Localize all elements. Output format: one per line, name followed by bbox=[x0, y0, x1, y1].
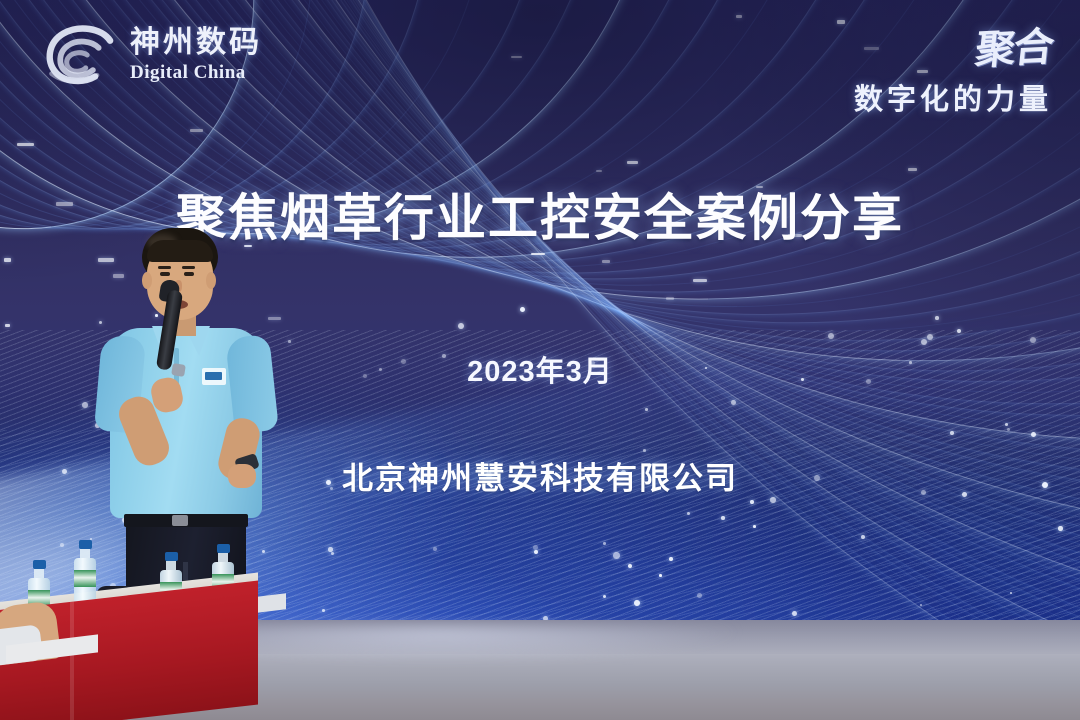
presenter-brow-right bbox=[182, 266, 195, 269]
presenter bbox=[96, 228, 276, 620]
presenter-hand-right bbox=[228, 464, 256, 488]
brand-name-cn: 神州数码 bbox=[130, 28, 262, 58]
presenter-eye-left bbox=[160, 272, 170, 276]
presenter-brow-left bbox=[158, 266, 171, 269]
digital-china-logo-lockup: 神州数码 Digital China bbox=[44, 22, 262, 88]
digital-china-swirl-logo-icon bbox=[44, 22, 116, 88]
water-bottle bbox=[74, 540, 96, 604]
presenter-eye-right bbox=[184, 272, 194, 276]
microphone-tip bbox=[171, 363, 186, 377]
slogan-text: 数字化的力量 bbox=[854, 76, 1052, 118]
presenter-ear-right bbox=[206, 272, 216, 289]
conference-photo: 神州数码 Digital China 聚合 数字化的力量 聚焦烟草行业工控安全案… bbox=[0, 0, 1080, 720]
presenter-shirt-logo bbox=[202, 368, 226, 385]
brand-name-en: Digital China bbox=[130, 63, 262, 82]
stage-floor-reflection bbox=[160, 626, 860, 686]
presenter-belt bbox=[124, 514, 248, 527]
calligraphy-juhe: 聚合 bbox=[973, 14, 1056, 76]
event-slogan-lockup: 聚合 数字化的力量 bbox=[854, 16, 1052, 118]
presenter-ear-left bbox=[142, 272, 152, 289]
